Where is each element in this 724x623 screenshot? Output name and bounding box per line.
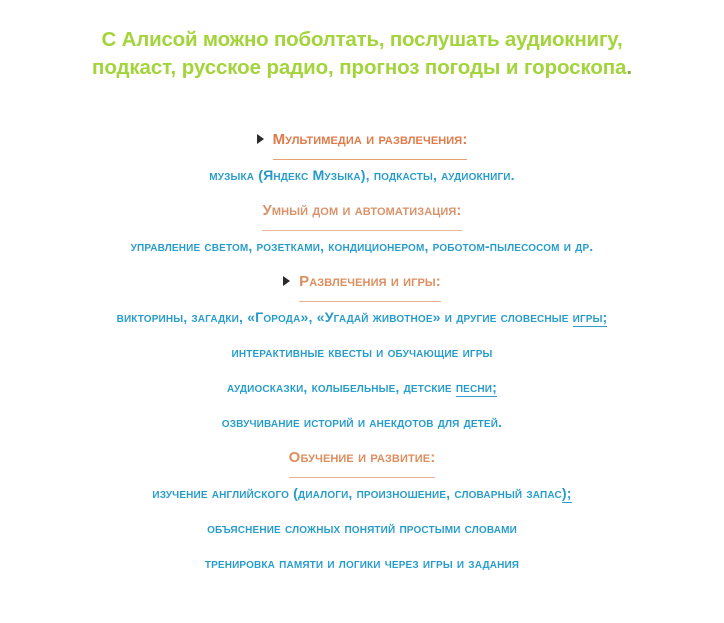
heading-inner: Развлечения и игры: xyxy=(283,264,441,302)
list-item-text: управление светом, розетками, кондиционе… xyxy=(131,230,594,265)
list-item: викторины, загадки, «Города», «Угадай жи… xyxy=(0,300,724,335)
intro-line-2: подкаст, русское радио, прогноз погоды и… xyxy=(24,54,700,82)
page-root: С Алисой можно поболтать, послушать ауди… xyxy=(0,0,724,623)
list-item-main: аудиосказки, колыбельные, детские xyxy=(227,380,456,396)
triangle-bullet-icon xyxy=(283,276,290,286)
list-item-main: изучение английского (диалоги, произноше… xyxy=(152,486,561,502)
intro-line-1: С Алисой можно поболтать, послушать ауди… xyxy=(24,26,700,54)
list-item-text: интерактивные квесты и обучающие игры xyxy=(232,336,493,371)
list-item-main: музыка (Яндекс Музыка), подкасты, аудиок… xyxy=(209,168,514,184)
list-item-text: музыка (Яндекс Музыка), подкасты, аудиок… xyxy=(209,159,514,194)
list-item: озвучивание историй и анекдотов для дете… xyxy=(0,405,724,440)
list-item-main: тренировка памяти и логики через игры и … xyxy=(205,556,519,572)
list-item-link[interactable]: ); xyxy=(562,486,572,503)
list-item-text: озвучивание историй и анекдотов для дете… xyxy=(222,406,502,441)
list-item-main: управление светом, розетками, кондиционе… xyxy=(131,239,594,255)
list-item-main: викторины, загадки, «Города», «Угадай жи… xyxy=(117,310,573,326)
intro-headline: С Алисой можно поболтать, послушать ауди… xyxy=(0,26,724,82)
intro-line-2-period: . xyxy=(626,56,632,79)
triangle-bullet-icon xyxy=(257,134,264,144)
list-item: интерактивные квесты и обучающие игры xyxy=(0,335,724,370)
section-heading-text: Развлечения и игры: xyxy=(299,264,441,302)
list-item-main: интерактивные квесты и обучающие игры xyxy=(232,345,493,361)
list-item-main: озвучивание историй и анекдотов для дете… xyxy=(222,415,502,431)
list-item-main: объяснение сложных понятий простыми слов… xyxy=(207,521,517,537)
list-item-text: тренировка памяти и логики через игры и … xyxy=(205,547,519,582)
heading-inner: Обучение и развитие: xyxy=(289,440,436,478)
section-heading-text: Обучение и развитие: xyxy=(289,440,436,478)
list-item-text: изучение английского (диалоги, произноше… xyxy=(152,477,571,512)
list-item-text: объяснение сложных понятий простыми слов… xyxy=(207,512,517,547)
list-item: управление светом, розетками, кондиционе… xyxy=(0,229,724,264)
list-item: изучение английского (диалоги, произноше… xyxy=(0,476,724,511)
list-item: музыка (Яндекс Музыка), подкасты, аудиок… xyxy=(0,158,724,193)
section-heading-learning-development: Обучение и развитие: xyxy=(0,440,724,476)
list-item-link[interactable]: песни; xyxy=(456,380,497,397)
section-heading-text: Мультимедиа и развлечения: xyxy=(273,122,468,160)
section-heading-multimedia: Мультимедиа и развлечения: xyxy=(0,122,724,158)
heading-inner: Умный дом и автоматизация: xyxy=(262,193,461,231)
list-item-text: аудиосказки, колыбельные, детские песни; xyxy=(227,371,497,406)
section-heading-smart-home: Умный дом и автоматизация: xyxy=(0,193,724,229)
section-heading-text: Умный дом и автоматизация: xyxy=(262,193,461,231)
list-item-text: викторины, загадки, «Города», «Угадай жи… xyxy=(117,301,608,336)
list-item: аудиосказки, колыбельные, детские песни; xyxy=(0,370,724,405)
section-heading-entertainment-games: Развлечения и игры: xyxy=(0,264,724,300)
list-item-link[interactable]: игры; xyxy=(573,310,608,327)
list-item: тренировка памяти и логики через игры и … xyxy=(0,546,724,581)
heading-inner: Мультимедиа и развлечения: xyxy=(257,122,468,160)
list-item: объяснение сложных понятий простыми слов… xyxy=(0,511,724,546)
content-list: Мультимедиа и развлечения: музыка (Яндек… xyxy=(0,122,724,581)
intro-line-2-text: подкаст, русское радио, прогноз погоды и… xyxy=(92,56,626,79)
